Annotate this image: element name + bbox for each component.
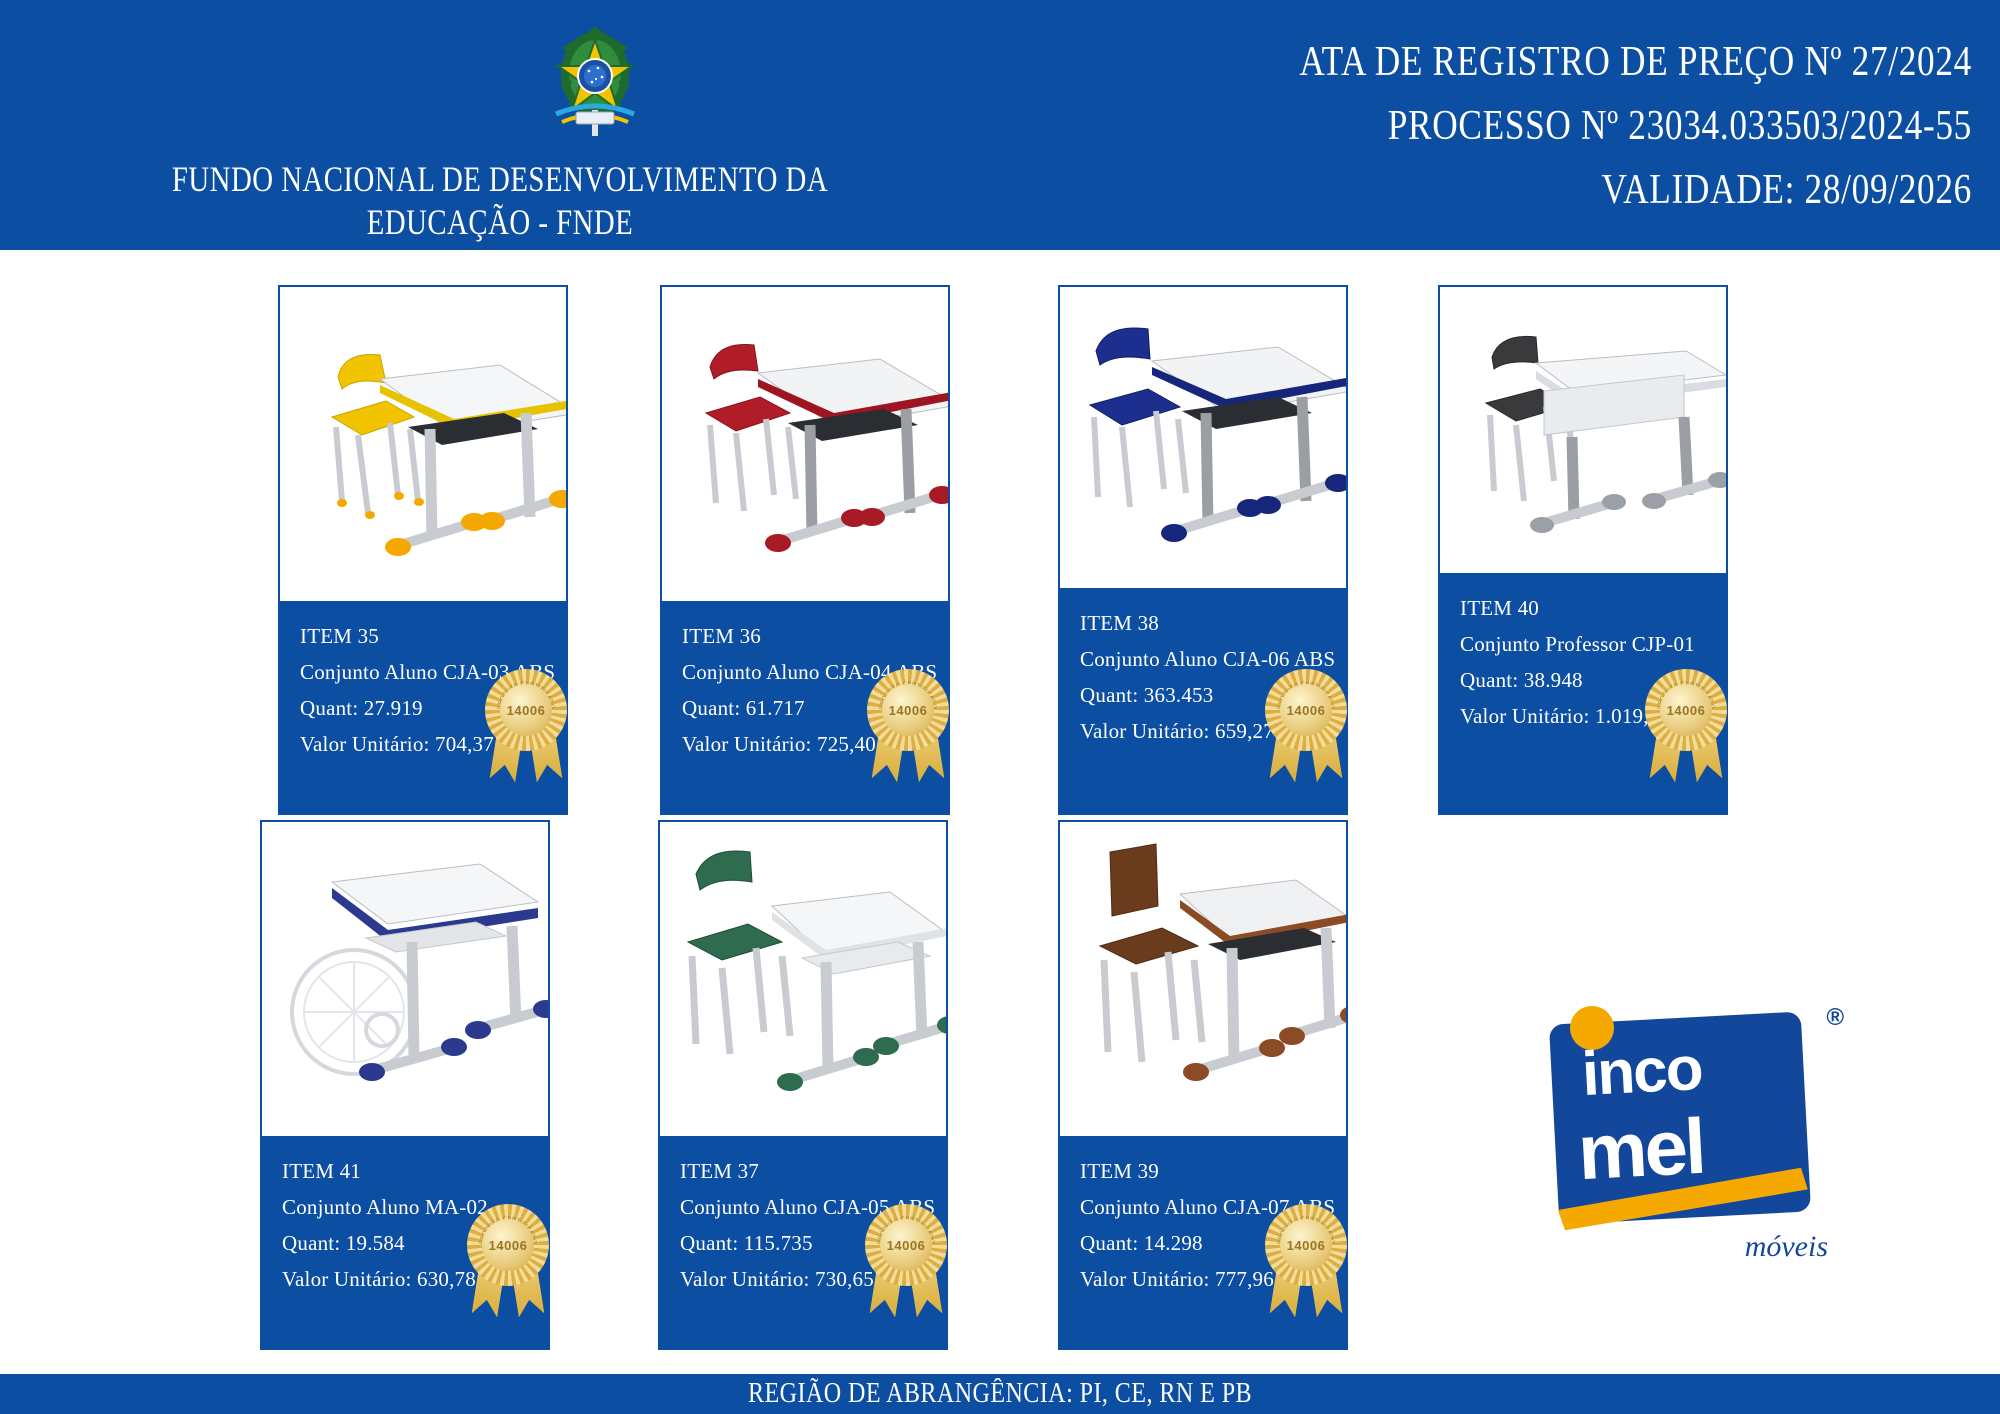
certification-seal: PRODUTO CERTIFICADO 14006 — [1638, 663, 1734, 783]
product-photo-item-41 — [260, 820, 550, 1138]
item-name: Conjunto Professor CJP-01 — [1460, 633, 1728, 655]
item-number: ITEM 40 — [1460, 597, 1728, 619]
seal-number: 14006 — [507, 703, 546, 718]
logo-word-mel: mel — [1576, 1101, 1706, 1198]
organization-name: FUNDO NACIONAL DE DESENVOLVIMENTO DA EDU… — [100, 158, 900, 244]
product-photo-item-38 — [1058, 285, 1348, 590]
product-photo-item-37 — [658, 820, 948, 1138]
coverage-region-footer: REGIÃO DE ABRANGÊNCIA: PI, CE, RN E PB — [0, 1374, 2000, 1414]
product-card-item-36[interactable]: ITEM 36 Conjunto Aluno CJA-04 ABS Quant:… — [660, 285, 950, 815]
product-card-item-37[interactable]: ITEM 37 Conjunto Aluno CJA-05 ABS Quant:… — [658, 820, 948, 1350]
item-number: ITEM 38 — [1080, 612, 1348, 634]
product-card-item-41[interactable]: ITEM 41 Conjunto Aluno MA-02 Quant: 19.5… — [260, 820, 550, 1350]
incomel-logo: inco mel ® móveis — [1530, 1000, 1850, 1270]
certification-seal: PRODUTO CERTIFICADO 14006 — [858, 1198, 954, 1318]
item-number: ITEM 37 — [680, 1160, 948, 1182]
document-meta: ATA DE REGISTRO DE PREÇO Nº 27/2024 PROC… — [842, 30, 1972, 222]
item-number: ITEM 39 — [1080, 1160, 1348, 1182]
certification-seal: PRODUTO CERTIFICADO 14006 — [1258, 663, 1354, 783]
logo-word-inco: inco — [1580, 1033, 1703, 1110]
certification-seal: PRODUTO CERTIFICADO 14006 — [460, 1198, 556, 1318]
coat-of-arms-icon — [540, 22, 650, 140]
seal-number: 14006 — [1667, 703, 1706, 718]
process-number: PROCESSO Nº 23034.033503/2024-55 — [1023, 94, 1972, 158]
ata-number: ATA DE REGISTRO DE PREÇO Nº 27/2024 — [1023, 30, 1972, 94]
item-number: ITEM 36 — [682, 625, 950, 647]
product-card-item-39[interactable]: ITEM 39 Conjunto Aluno CJA-07 ABS Quant:… — [1058, 820, 1348, 1350]
validity-date: VALIDADE: 28/09/2026 — [1023, 158, 1972, 222]
product-photo-item-40 — [1438, 285, 1728, 575]
product-card-item-35[interactable]: ITEM 35 Conjunto Aluno CJA-03 ABS Quant:… — [278, 285, 568, 815]
certification-seal: PRODUTO CERTIFICADO 14006 — [860, 663, 956, 783]
product-photo-item-36 — [660, 285, 950, 603]
seal-number: 14006 — [1287, 1238, 1326, 1253]
item-number: ITEM 41 — [282, 1160, 550, 1182]
product-photo-item-39 — [1058, 820, 1348, 1138]
seal-number: 14006 — [489, 1238, 528, 1253]
product-photo-item-35 — [278, 285, 568, 603]
page-header: FUNDO NACIONAL DE DESENVOLVIMENTO DA EDU… — [0, 0, 2000, 250]
seal-number: 14006 — [887, 1238, 926, 1253]
coverage-region-text: REGIÃO DE ABRANGÊNCIA: PI, CE, RN E PB — [748, 1378, 1252, 1410]
seal-number: 14006 — [1287, 703, 1326, 718]
item-number: ITEM 35 — [300, 625, 568, 647]
certification-seal: PRODUTO CERTIFICADO 14006 — [1258, 1198, 1354, 1318]
product-card-item-40[interactable]: ITEM 40 Conjunto Professor CJP-01 Quant:… — [1438, 285, 1728, 815]
seal-number: 14006 — [889, 703, 928, 718]
logo-tagline: móveis — [1745, 1230, 1828, 1264]
product-card-item-38[interactable]: ITEM 38 Conjunto Aluno CJA-06 ABS Quant:… — [1058, 285, 1348, 815]
certification-seal: PRODUTO CERTIFICADO 14006 — [478, 663, 574, 783]
registered-trademark-icon: ® — [1826, 1004, 1844, 1032]
price-registry-poster: FUNDO NACIONAL DE DESENVOLVIMENTO DA EDU… — [0, 0, 2000, 1414]
